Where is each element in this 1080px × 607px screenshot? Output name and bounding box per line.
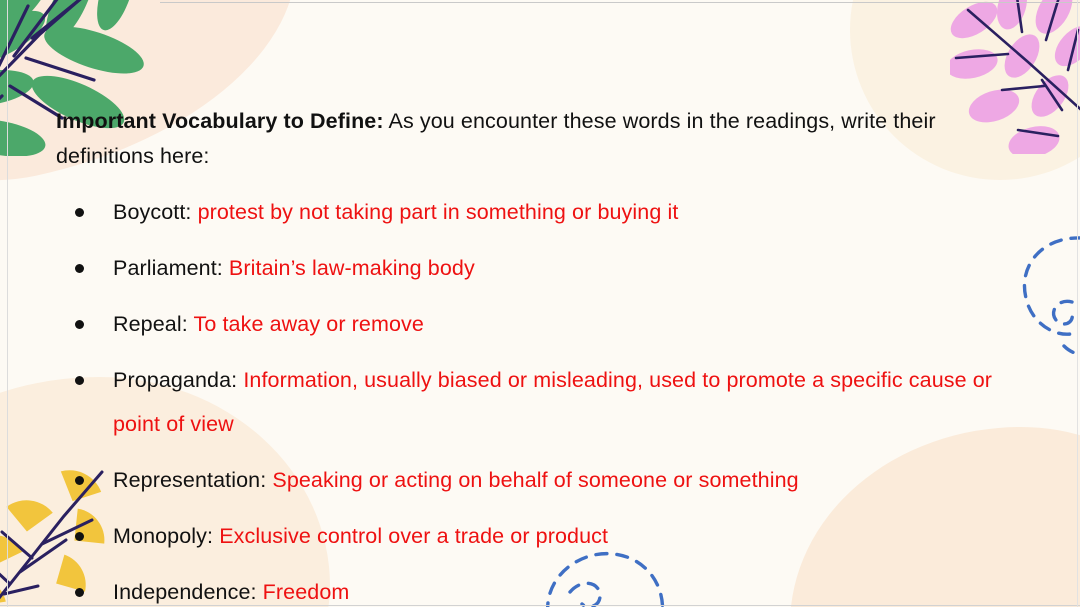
blue-dashed-swirl-right-icon <box>1016 228 1080 363</box>
list-item: Parliament: Britain’s law-making body <box>56 246 1002 290</box>
vocab-term: Representation: <box>113 468 266 492</box>
vocab-definition: Freedom <box>263 580 350 604</box>
top-divider <box>160 2 1080 3</box>
vocab-term: Repeal: <box>113 312 188 336</box>
vocab-term: Independence: <box>113 580 257 604</box>
list-item: Repeal: To take away or remove <box>56 302 1002 346</box>
vocab-term: Boycott: <box>113 200 191 224</box>
bottom-divider <box>0 605 1080 606</box>
vocab-definition: Britain’s law-making body <box>229 256 475 280</box>
list-item: Representation: Speaking or acting on be… <box>56 458 1002 502</box>
right-divider <box>1077 0 1078 607</box>
list-item: Propaganda: Information, usually biased … <box>56 358 1002 446</box>
intro-lead: Important Vocabulary to Define: <box>56 109 384 133</box>
list-item: Boycott: protest by not taking part in s… <box>56 190 1002 234</box>
list-item: Independence: Freedom <box>56 570 1002 607</box>
bullet-icon <box>75 588 84 597</box>
vocab-definition: Speaking or acting on behalf of someone … <box>272 468 798 492</box>
vocabulary-list: Boycott: protest by not taking part in s… <box>56 190 1002 607</box>
vocab-term: Monopoly: <box>113 524 213 548</box>
list-item: Monopoly: Exclusive control over a trade… <box>56 514 1002 558</box>
bullet-icon <box>75 532 84 541</box>
bullet-icon <box>75 376 84 385</box>
slide-content: Important Vocabulary to Define: As you e… <box>56 104 1002 607</box>
bullet-icon <box>75 320 84 329</box>
left-divider <box>7 0 8 607</box>
slide-canvas: Important Vocabulary to Define: As you e… <box>0 0 1080 607</box>
vocab-definition: protest by not taking part in something … <box>198 200 679 224</box>
bullet-icon <box>75 264 84 273</box>
vocab-definition: Information, usually biased or misleadin… <box>113 368 992 436</box>
vocab-term: Parliament: <box>113 256 223 280</box>
intro-paragraph: Important Vocabulary to Define: As you e… <box>56 104 1002 174</box>
bullet-icon <box>75 476 84 485</box>
vocab-definition: Exclusive control over a trade or produc… <box>219 524 608 548</box>
vocab-definition: To take away or remove <box>194 312 424 336</box>
bullet-icon <box>75 208 84 217</box>
vocab-term: Propaganda: <box>113 368 237 392</box>
